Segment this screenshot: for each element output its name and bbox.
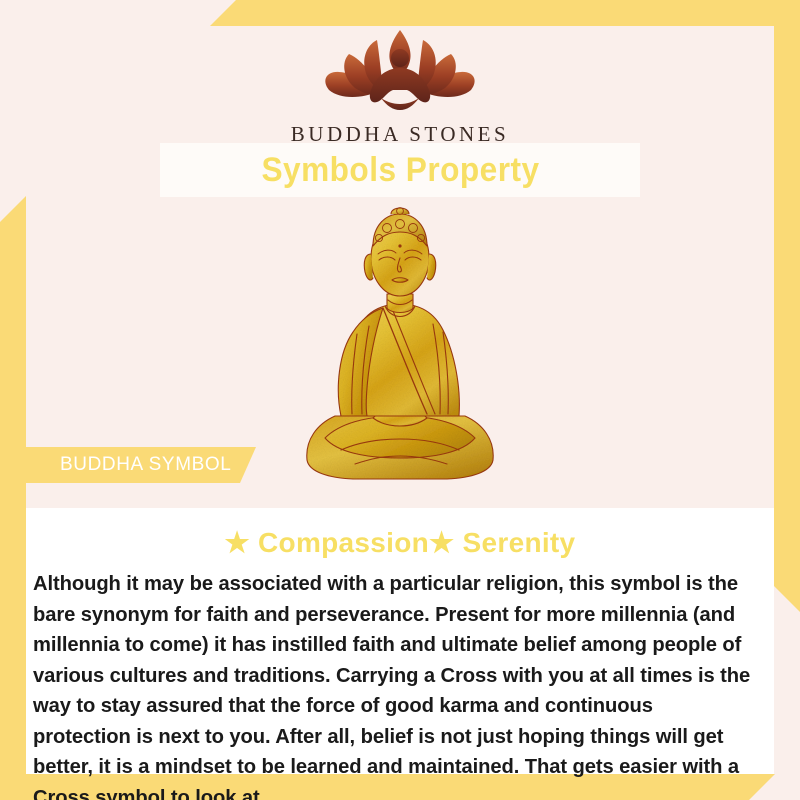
title-banner: Symbols Property [160,143,640,197]
page-title: Symbols Property [261,151,539,190]
lotus-meditation-figure-icon [315,28,485,120]
content-panel: ★ Compassion★ Serenity Although it may b… [26,508,774,774]
frame-band-top [210,0,800,26]
buddha-symbol-tag: BUDDHA SYMBOL [18,447,256,483]
buddha-symbol-tag-label: BUDDHA SYMBOL [60,454,231,476]
poster-root: BUDDHA STONES Symbols Property [0,0,800,800]
golden-seated-buddha-statue-icon [295,202,505,492]
page-surface: BUDDHA STONES Symbols Property [26,26,774,774]
brand-logo-block: BUDDHA STONES [26,28,774,147]
body-paragraph: Although it may be associated with a par… [32,569,757,800]
keywords-heading: ★ Compassion★ Serenity [32,526,768,559]
frame-band-right [774,0,800,612]
frame-band-left [0,196,26,800]
